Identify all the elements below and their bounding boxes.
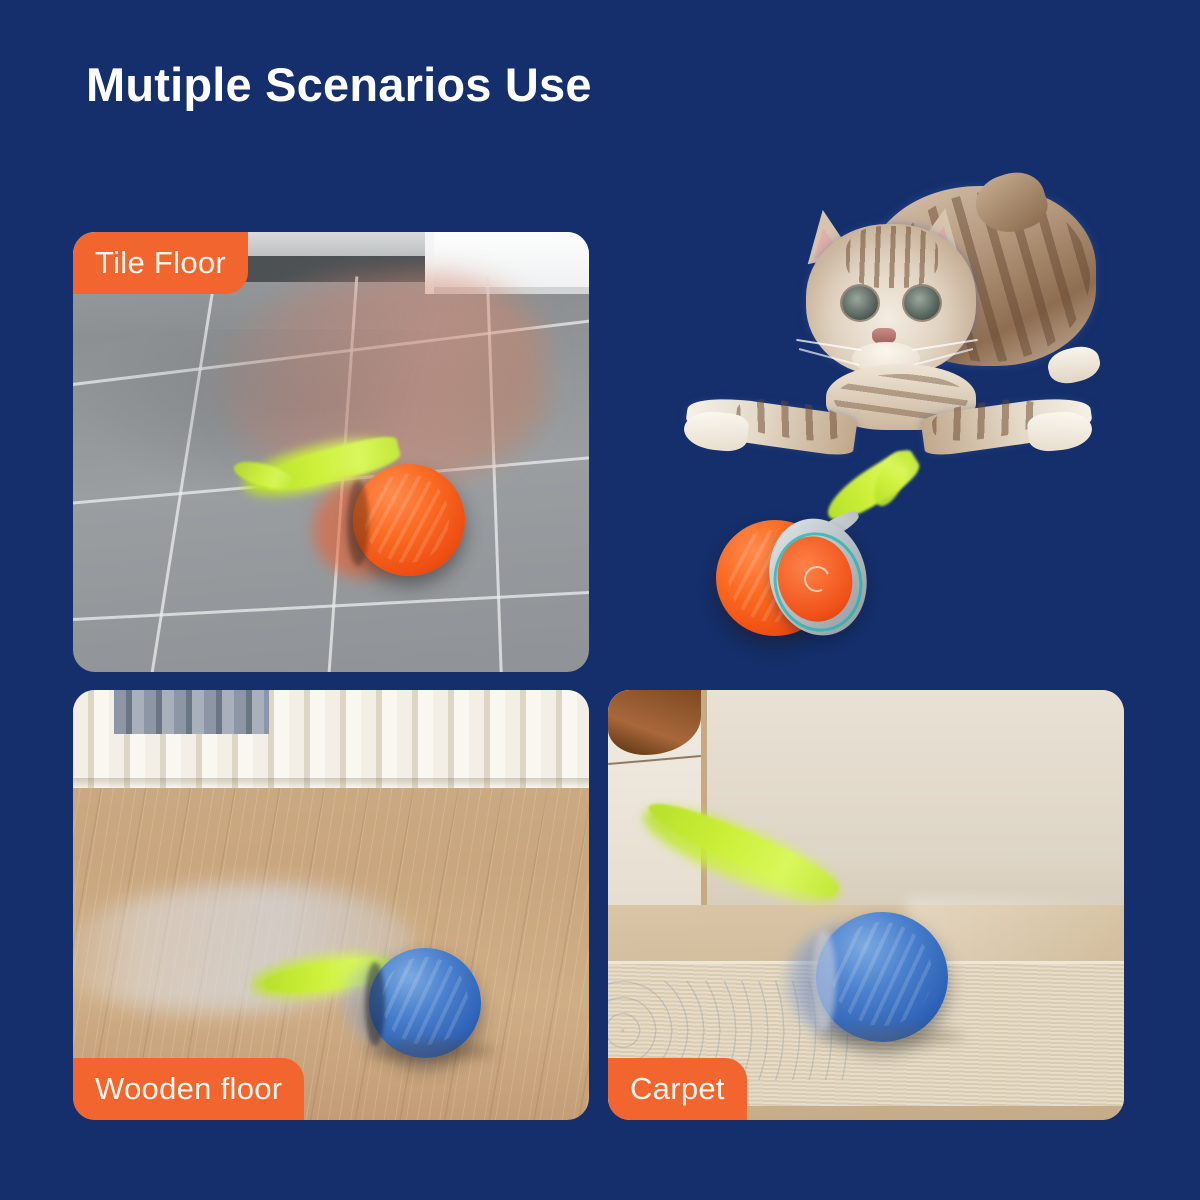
wall-art-brown-shape [608,690,701,755]
badge-tile-floor[interactable]: Tile Floor [73,232,248,294]
product-feature-banner: Mutiple Scenarios Use [0,0,1200,1200]
ball-dark-band [365,962,385,1046]
scenario-card-tile[interactable]: Tile Floor [73,232,589,672]
wooden-floor-photo [73,690,589,1120]
scenario-card-carpet[interactable]: Carpet [608,690,1124,1120]
kitten-eye-left [842,286,878,320]
orange-ball-toy [353,464,465,576]
ball-rug-shadow [814,1028,964,1046]
wall-art-frame [608,690,707,905]
ball-ribbing [382,957,467,1045]
scenario-card-wood[interactable]: Wooden floor [73,690,589,1120]
carpet-scene [608,690,1124,1120]
wall-art-line [608,755,701,765]
kitten-hero-image [676,168,1096,468]
kitten-eye-right [904,286,940,320]
badge-wooden-floor[interactable]: Wooden floor [73,1058,304,1120]
badge-carpet[interactable]: Carpet [608,1058,747,1120]
badge-tile-floor-label: Tile Floor [95,245,226,281]
curtain-dark-section [114,690,269,734]
wooden-floor-scene [73,690,589,1120]
ball-light-band [812,930,836,1030]
ball-floor-shadow [365,1042,495,1060]
ball-ribbing [832,922,932,1026]
kitten-paw-left [682,409,750,453]
product-hero-toy [712,466,932,646]
tile-floor-photo [73,232,589,672]
ball-ribbing [364,474,449,562]
page-title: Mutiple Scenarios Use [86,58,592,112]
badge-wooden-floor-label: Wooden floor [95,1071,282,1107]
carpet-photo [608,690,1124,1120]
badge-carpet-label: Carpet [630,1071,725,1107]
kitten-forehead-stripes [846,226,938,288]
tile-floor-scene [73,232,589,672]
ball-dark-band [347,480,369,566]
